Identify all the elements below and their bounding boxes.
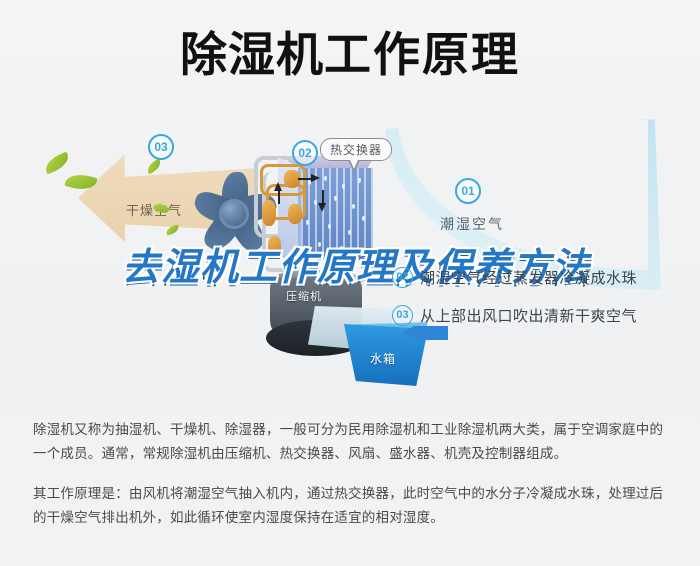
callout-pointer-icon [348,160,360,172]
legend-item: 03 从上部出风口吹出清新干爽空气 [392,296,692,334]
leaf-icon [42,152,71,175]
article-body: 除湿机又称为抽湿机、干燥机、除湿器，一般可分为民用除湿机和工业除湿机两大类，属于… [33,418,669,530]
page-title-part2: 工作原理 [324,28,520,81]
legend-badge-02: 02 [392,267,413,288]
body-paragraph-1: 除湿机又称为抽湿机、干燥机、除湿器，一般可分为民用除湿机和工业除湿机两大类，属于… [33,418,669,466]
flow-arrow-up-icon [274,182,282,191]
callout-badge-01: 01 [455,178,481,204]
legend-text-03: 从上部出风口吹出清新干爽空气 [420,305,637,326]
flow-arrow-right-icon [311,174,320,182]
step-legend: 02 潮湿空气经过蒸发器冷凝成水珠 03 从上部出风口吹出清新干爽空气 [392,258,692,334]
legend-item: 02 潮湿空气经过蒸发器冷凝成水珠 [392,258,692,296]
page-title-part1: 除湿机 [180,28,324,81]
leaf-icon [145,159,163,175]
flow-arrow-stem [322,190,324,204]
compressor-label: 压缩机 [286,288,322,304]
legend-text-02: 潮湿空气经过蒸发器冷凝成水珠 [420,267,637,288]
heat-exchanger-callout: 热交换器 [320,138,392,161]
body-paragraph-2: 其工作原理是：由风机将潮湿空气抽入机内，通过热交换器，此时空气中的水分子冷凝成水… [33,482,669,530]
callout-badge-02: 02 [292,140,318,166]
callout-badge-03: 03 [148,134,174,160]
dry-air-label: 干燥空气 [126,200,182,219]
flow-arrow-stem [298,178,312,180]
flow-arrow-stem [278,190,280,204]
fan-hub [219,199,249,229]
infographic-page: 除湿机工作原理 干燥空气 [0,0,700,566]
page-title: 除湿机工作原理 [0,26,700,84]
water-tank-label: 水箱 [370,350,396,367]
humid-air-label: 潮湿空气 [440,214,504,234]
legend-badge-03: 03 [392,305,413,326]
flow-arrow-down-icon [318,203,326,212]
